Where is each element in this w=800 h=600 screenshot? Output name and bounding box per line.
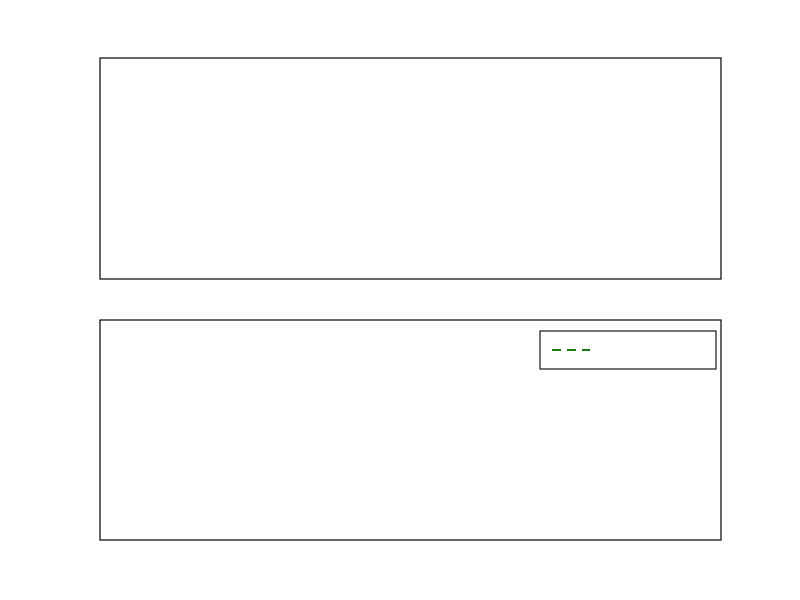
top-plot-frame [100, 58, 721, 279]
legend-box [540, 331, 716, 369]
figure-canvas [0, 0, 800, 600]
top-axes [100, 58, 721, 279]
matplotlib-figure [0, 0, 800, 600]
legend[interactable] [540, 331, 716, 369]
